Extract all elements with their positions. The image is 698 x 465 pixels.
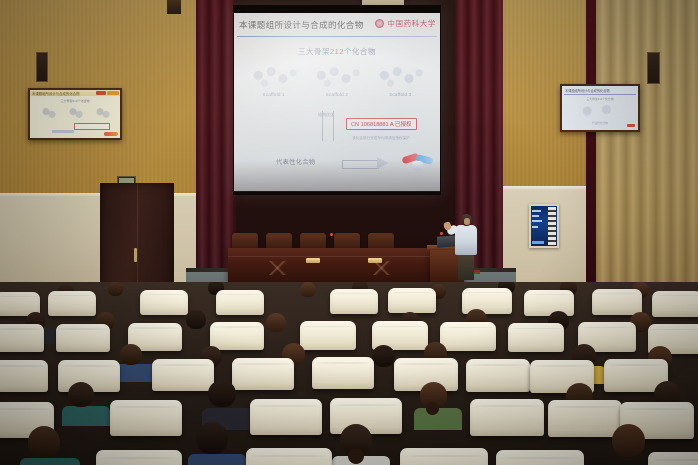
seat [466,359,530,392]
left-monitor-display: 本课题组所设计与合成的化合物 三大骨架212个化合物 [30,90,120,138]
audience-area [0,282,698,465]
left-monitor-patent-box [74,123,110,130]
title-divider [237,36,437,37]
right-monitor-structures [568,104,632,118]
seat [330,289,378,314]
seat [56,324,110,352]
speaker-body [455,225,477,255]
table-panel-pattern [232,261,328,275]
audience-head [266,313,286,332]
scaffold-label: Scaffold 1 [246,92,302,97]
right-monitor-title: 本课题组所设计与合成的化合物 [565,88,610,93]
audience-hair-bun [348,448,364,464]
audience-head [300,282,316,297]
subtitle-number: 212 [330,47,344,56]
slide-middle-section: 结构优化 CN 106818881 A 已授权 该化合物已完成专利申请及授权保护 [234,111,440,143]
info-line [532,220,542,222]
scaffold-item: Scaffold 1 [246,65,302,97]
right-monitor-divider [564,94,636,95]
info-panel-strip [548,207,556,245]
right-wall-monitor: 本课题组所设计与合成的化合物 三大骨架212个化合物 代表性化合物 [560,84,640,132]
seat [300,321,356,350]
speaker-face [464,218,470,225]
seat [440,322,496,351]
seat [592,289,642,315]
seat [496,450,584,465]
patent-badge: CN 106818881 A 已授权 [346,118,417,130]
left-monitor-capsule-icon [104,132,118,136]
audience-shoulders [114,364,156,382]
seat [388,288,436,313]
university-logo-text: 中国药科大学 [387,18,436,29]
left-monitor-badge-2 [107,91,119,95]
seat [246,448,332,465]
table-nameplate [306,258,320,263]
seat [96,450,182,465]
audience-hair-bun [426,402,439,415]
seat [210,322,264,350]
scaffold-item: Scaffold 2 [309,65,365,97]
left-monitor-arrow-icon [52,130,74,133]
structure-thumb [38,106,58,120]
info-line [532,215,539,217]
seat [470,399,544,436]
audience-shoulders [62,406,110,426]
seat [110,400,182,436]
right-monitor-subtitle: 三大骨架212个化合物 [562,97,638,101]
capsule-pills-graphic [402,151,436,177]
slide-title: 本课题组所设计与合成的化合物 [239,19,364,31]
info-line [532,226,538,228]
capsule-white-icon [412,161,423,170]
audience-shoulders [188,454,246,465]
patent-note: 该化合物已完成专利申请及授权保护 [346,136,416,140]
seat [508,323,564,352]
audience-head [186,310,206,329]
info-panel-bar [532,241,544,244]
seal-icon [375,19,384,28]
door-handle [134,248,137,262]
arrow-shaft [342,160,379,169]
audience-shoulders [20,458,80,465]
info-panel-display [531,206,557,246]
wall-info-panel [529,204,559,248]
seat [548,400,622,437]
right-monitor-highlight [627,124,635,127]
audience-head [612,424,645,457]
left-wall-sconce [36,52,48,82]
right-monitor-display: 本课题组所设计与合成的化合物 三大骨架212个化合物 代表性化合物 [562,86,638,130]
left-monitor-subtitle: 三大骨架212个化合物 [30,99,120,103]
structure-thumb [65,106,85,120]
seat [400,448,488,465]
table-panel-pattern [336,261,432,275]
seat [48,291,96,316]
lecture-hall-photo: 本课题组所设计与合成的化合物 中国药科大学 三大骨架212个化合物 Scaffo… [0,0,698,465]
seat [232,358,294,390]
seat [140,290,188,315]
audience-head [372,345,395,367]
scaffold-row: Scaffold 1 Scaffold 2 Scaffold 3 [242,65,432,107]
representative-compound-label: 代表性化合物 [276,157,316,166]
table-band [228,256,438,257]
presenter-laptop [437,235,457,247]
vertical-arrow-note: 结构优化 [312,113,340,117]
chemical-structure-icon [372,65,428,91]
right-arrow-icon [342,158,390,169]
audience-head [120,344,142,365]
right-wall-sconce [647,52,660,84]
chemical-structure-icon [309,65,365,91]
arrow-head [377,157,389,169]
scaffold-label: Scaffold 2 [309,92,365,97]
slide-subtitle: 三大骨架212个化合物 [234,46,440,57]
seat [524,290,574,316]
audience-head [108,282,123,296]
seat [312,357,374,389]
chemical-structure-icon [246,65,302,91]
scaffold-label: Scaffold 3 [372,92,428,97]
subtitle-prefix: 三大骨架 [298,47,330,56]
table-nameplate [368,258,382,263]
audience-head [208,380,236,407]
top-wall-fixture [167,0,181,14]
left-wall-monitor: 本课题组所设计与合成的化合物 三大骨架212个化合物 [28,88,122,140]
seat [0,360,48,392]
left-monitor-title: 本课题组所设计与合成的化合物 [32,91,79,96]
structure-thumb [92,106,112,120]
audience-head [28,426,60,458]
university-logo: 中国药科大学 [375,18,436,29]
subtitle-suffix: 个化合物 [344,47,376,56]
left-monitor-structures [35,106,115,120]
projection-screen: 本课题组所设计与合成的化合物 中国药科大学 三大骨架212个化合物 Scaffo… [234,13,440,191]
speaker-legs [458,253,474,280]
left-monitor-badge-1 [96,91,106,95]
seat [0,324,44,352]
scaffold-item: Scaffold 3 [372,65,428,97]
audience-head [196,422,228,454]
seat [216,290,264,315]
seat [250,399,322,435]
info-line [532,210,541,212]
head-table [228,248,438,282]
microphone-indicator [330,233,333,236]
seat [152,359,214,391]
audience-head [68,382,94,407]
microphone-indicator [440,232,443,235]
seat [652,291,698,317]
seat [648,452,698,465]
